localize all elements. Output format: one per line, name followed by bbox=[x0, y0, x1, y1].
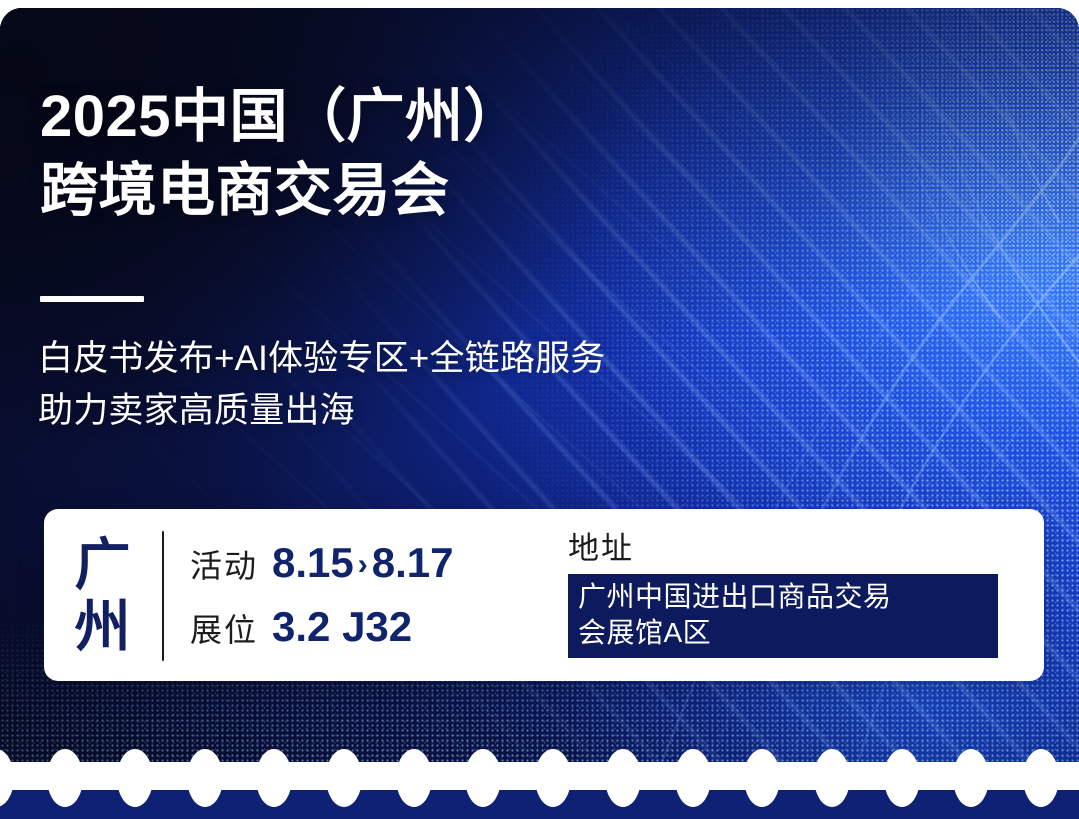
perforation-dot bbox=[605, 749, 641, 807]
address-line-1: 广州中国进出口商品交易 bbox=[578, 579, 988, 615]
perforation-dot-row bbox=[0, 737, 1079, 819]
perforation-dot bbox=[535, 749, 571, 807]
perforation-dot bbox=[396, 749, 432, 807]
address-section: 地址 广州中国进出口商品交易 会展馆A区 bbox=[564, 509, 1044, 681]
perforation-dot bbox=[0, 749, 14, 807]
address-value-box: 广州中国进出口商品交易 会展馆A区 bbox=[568, 574, 998, 658]
perforation-dot bbox=[465, 749, 501, 807]
address-line-2: 会展馆A区 bbox=[578, 615, 988, 651]
date-range-separator-icon: › bbox=[358, 548, 368, 582]
event-details: 活动 8.15 › 8.17 展位 3.2 J32 bbox=[164, 509, 564, 681]
perforation-dot bbox=[675, 749, 711, 807]
perforation-dot bbox=[953, 749, 989, 807]
event-info-card: 广 州 活动 8.15 › 8.17 展位 3.2 J32 bbox=[44, 509, 1044, 681]
headline: 2025中国（广州） 跨境电商交易会 bbox=[40, 80, 800, 228]
bottom-perforation-strip bbox=[0, 737, 1079, 819]
city-name: 广 州 bbox=[44, 509, 162, 681]
perforation-dot bbox=[884, 749, 920, 807]
perforation-dot bbox=[1023, 749, 1059, 807]
event-date-label: 活动 bbox=[190, 541, 258, 587]
perforation-dot bbox=[256, 749, 292, 807]
booth-label: 展位 bbox=[190, 605, 258, 651]
subheadline: 白皮书发布+AI体验专区+全链路服务 助力卖家高质量出海 bbox=[38, 333, 858, 437]
headline-line-2: 跨境电商交易会 bbox=[40, 154, 800, 228]
event-date-end: 8.17 bbox=[372, 539, 454, 587]
subheadline-line-2: 助力卖家高质量出海 bbox=[38, 385, 858, 437]
event-date-row: 活动 8.15 › 8.17 bbox=[190, 539, 564, 587]
subheadline-line-1: 白皮书发布+AI体验专区+全链路服务 bbox=[38, 333, 858, 385]
perforation-dot bbox=[117, 749, 153, 807]
divider-rule bbox=[40, 296, 144, 302]
perforation-dot bbox=[187, 749, 223, 807]
perforation-dot bbox=[744, 749, 780, 807]
banner-content: 2025中国（广州） 跨境电商交易会 白皮书发布+AI体验专区+全链路服务 助力… bbox=[0, 8, 1079, 819]
headline-line-1: 2025中国（广州） bbox=[40, 80, 800, 154]
city-char-2: 州 bbox=[75, 596, 132, 658]
event-date-start: 8.15 bbox=[272, 539, 354, 587]
perforation-dot bbox=[326, 749, 362, 807]
city-char-1: 广 bbox=[75, 534, 132, 596]
banner-card: 2025中国（广州） 跨境电商交易会 白皮书发布+AI体验专区+全链路服务 助力… bbox=[0, 8, 1079, 819]
booth-row: 展位 3.2 J32 bbox=[190, 603, 564, 651]
promo-banner: 2025中国（广州） 跨境电商交易会 白皮书发布+AI体验专区+全链路服务 助力… bbox=[0, 0, 1079, 819]
booth-number: 3.2 J32 bbox=[272, 603, 412, 651]
perforation-dot bbox=[47, 749, 83, 807]
address-label: 地址 bbox=[568, 532, 1024, 566]
perforation-dot bbox=[814, 749, 850, 807]
